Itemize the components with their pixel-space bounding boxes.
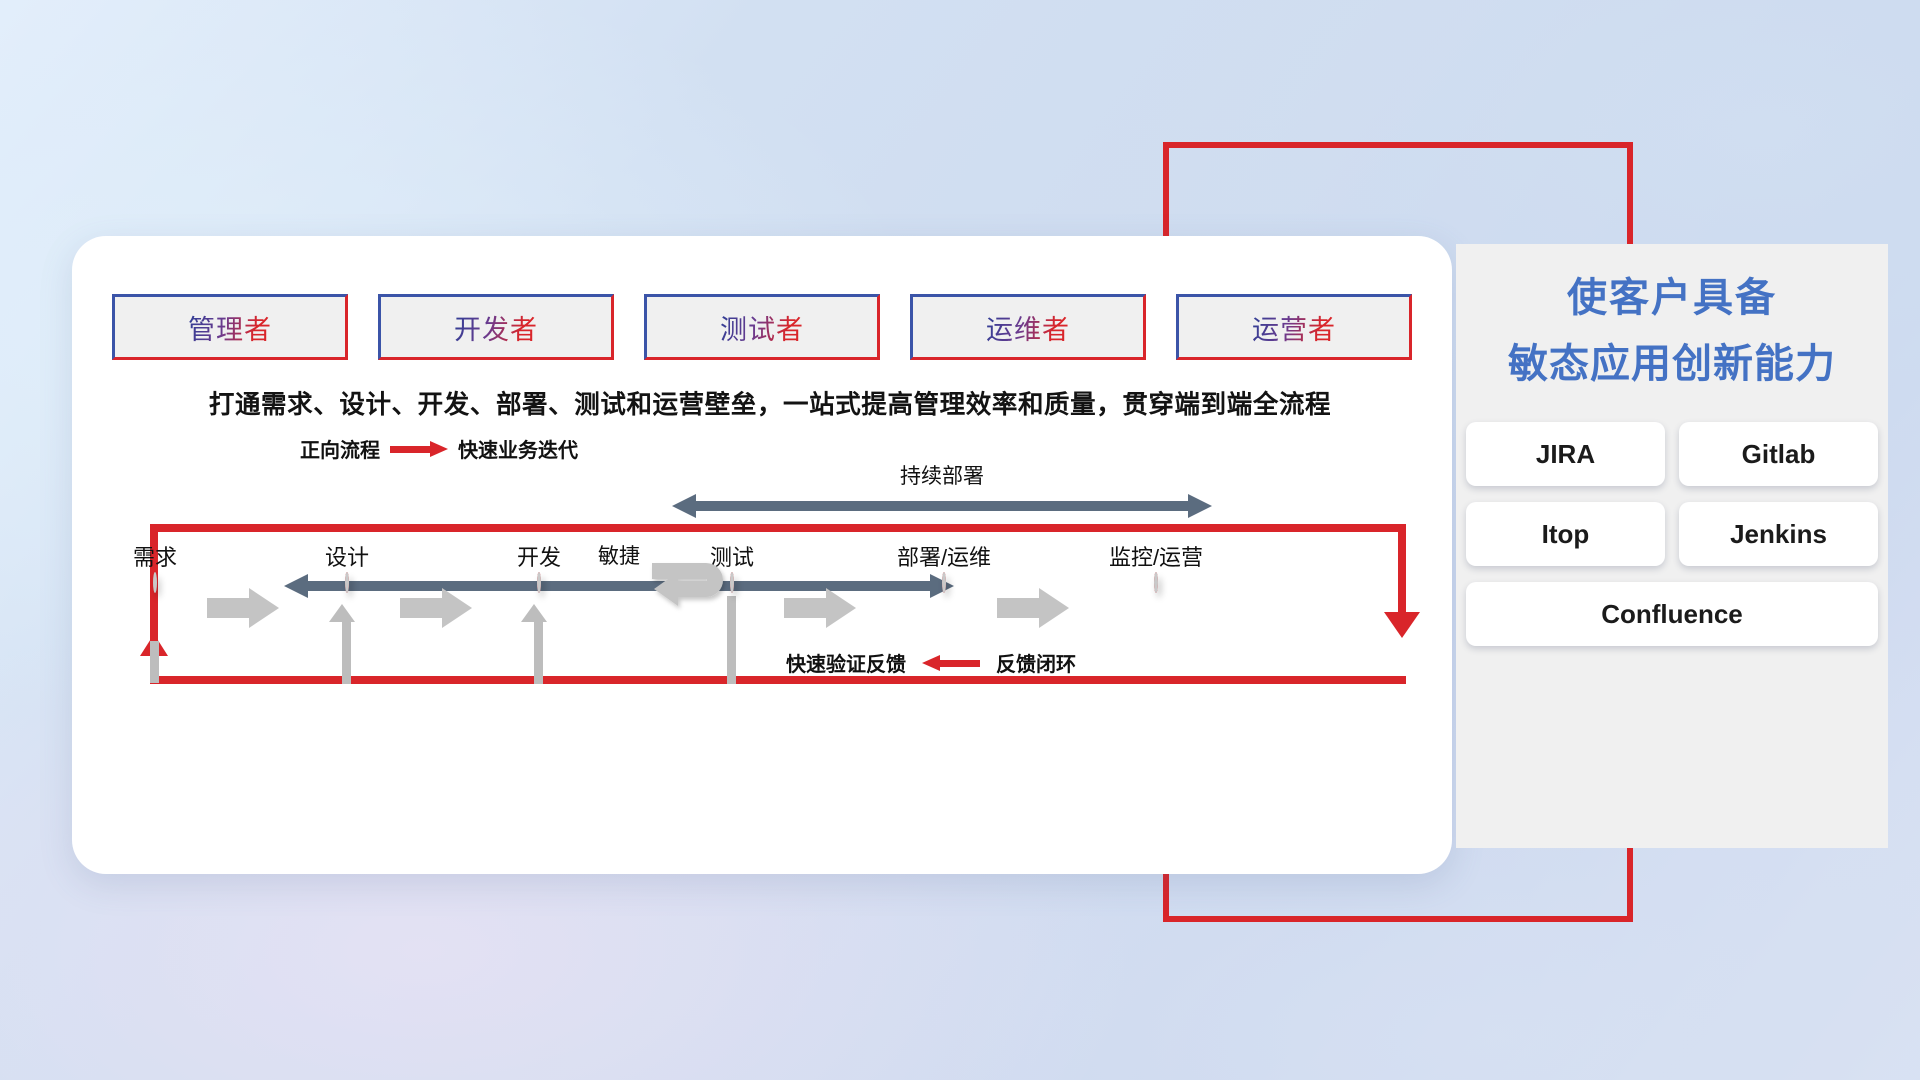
tool-chip-label: Itop xyxy=(1542,519,1590,550)
chevron-requirement-to-design xyxy=(207,588,279,628)
panel-title-line2: 敏态应用创新能力 xyxy=(1456,334,1888,394)
tool-chip-grid: JIRA Gitlab Itop Jenkins Confluence xyxy=(1466,422,1878,646)
node-dot xyxy=(537,572,541,593)
tool-chip-label: JIRA xyxy=(1536,439,1595,470)
panel-title-line1: 使客户具备 xyxy=(1456,268,1888,328)
tool-chip-confluence[interactable]: Confluence xyxy=(1466,582,1878,646)
process-node-row: 需求 设计 开发 测试 部署/运维 监控/运营 xyxy=(72,236,1452,874)
tool-chip-label: Jenkins xyxy=(1730,519,1827,550)
chevron-test-to-deploy xyxy=(784,588,856,628)
node-label: 监控/运营 xyxy=(1109,540,1203,572)
feedback-right-label: 反馈闭环 xyxy=(996,648,1076,677)
node-label: 部署/运维 xyxy=(897,540,991,572)
feedback-left-label: 快速验证反馈 xyxy=(786,648,906,677)
node-dot xyxy=(1154,572,1158,593)
arrow-head-up-grey-icon xyxy=(521,604,547,622)
chevron-deploy-to-monitor xyxy=(997,588,1069,628)
tool-chip-gitlab[interactable]: Gitlab xyxy=(1679,422,1878,486)
node-label: 设计 xyxy=(325,540,369,572)
right-panel: 使客户具备 敏态应用创新能力 JIRA Gitlab Itop Jenkins … xyxy=(1456,244,1888,848)
feedback-caption: 快速验证反馈 反馈闭环 xyxy=(786,648,1076,677)
node-monitor-operations[interactable]: 监控/运营 xyxy=(1117,574,1195,592)
arrow-left-red-icon xyxy=(922,655,980,671)
node-deploy-ops[interactable]: 部署/运维 xyxy=(905,574,983,592)
node-dot xyxy=(942,572,946,593)
riser-design xyxy=(342,618,351,684)
node-requirement[interactable]: 需求 xyxy=(116,574,194,592)
node-label: 开发 xyxy=(517,540,561,572)
node-label: 需求 xyxy=(133,540,177,572)
tool-chip-label: Gitlab xyxy=(1742,439,1816,470)
riser-requirement xyxy=(150,641,159,683)
riser-development xyxy=(534,618,543,684)
panel-title: 使客户具备 敏态应用创新能力 xyxy=(1456,268,1888,394)
node-dot xyxy=(345,572,349,593)
arrow-head-up-grey-icon xyxy=(329,604,355,622)
node-design[interactable]: 设计 xyxy=(308,574,386,592)
slide-canvas: 管理者 开发者 测试者 运维者 运营者 打通需求、设计、开发、部署、测试和运营壁… xyxy=(0,0,1920,1080)
tool-chip-label: Confluence xyxy=(1601,599,1743,630)
tool-chip-jenkins[interactable]: Jenkins xyxy=(1679,502,1878,566)
chevron-design-to-development xyxy=(400,588,472,628)
uturn-loop-icon xyxy=(648,554,740,614)
node-development[interactable]: 开发 xyxy=(500,574,578,592)
main-card: 管理者 开发者 测试者 运维者 运营者 打通需求、设计、开发、部署、测试和运营壁… xyxy=(72,236,1452,874)
node-dot xyxy=(153,572,157,593)
tool-chip-jira[interactable]: JIRA xyxy=(1466,422,1665,486)
tool-chip-itop[interactable]: Itop xyxy=(1466,502,1665,566)
